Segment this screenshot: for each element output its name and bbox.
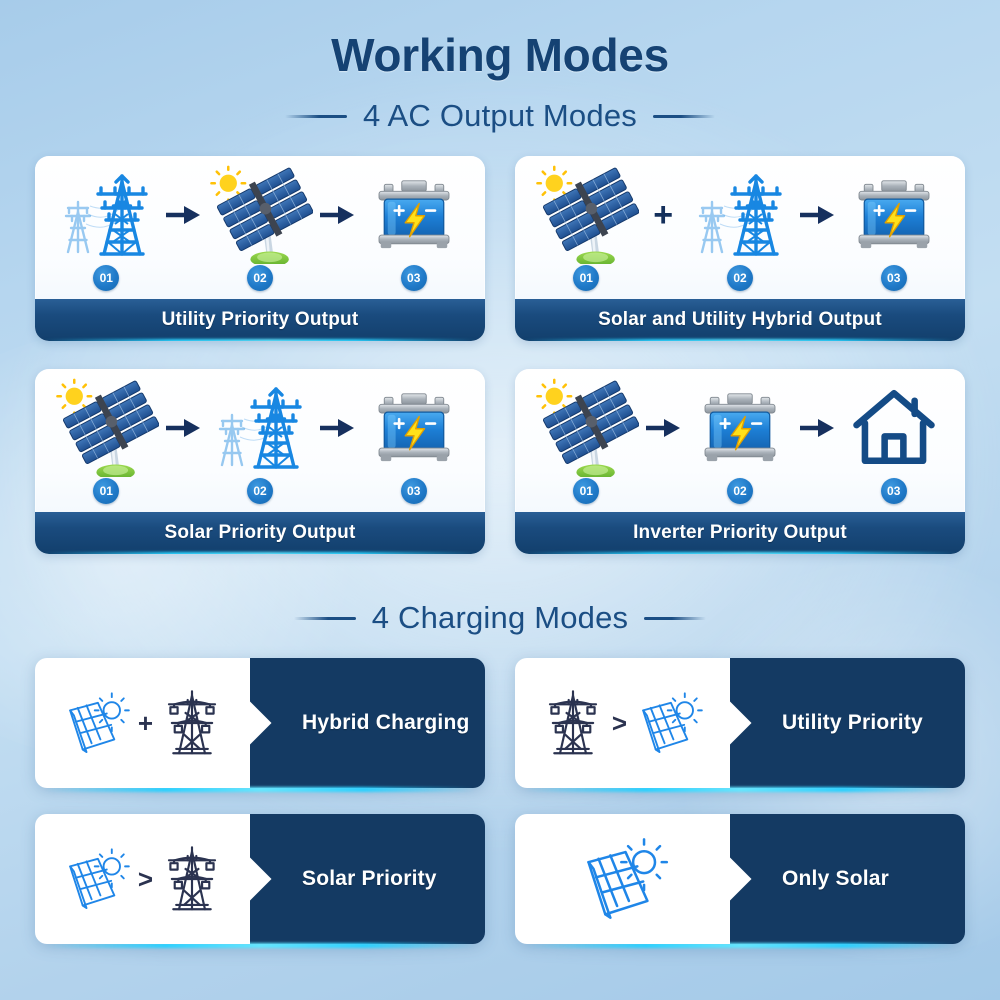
- ac-mode-card[interactable]: 01 + 02 03: [515, 156, 965, 341]
- flow-step: 03: [838, 378, 949, 504]
- ac-section-label: 4 AC Output Modes: [363, 98, 637, 134]
- operator-symbol: +: [138, 710, 153, 736]
- utility-tower-icon: [60, 165, 152, 263]
- operator-symbol: >: [612, 710, 627, 736]
- flow-step: 03: [358, 378, 469, 504]
- ac-mode-title: Inverter Priority Output: [515, 512, 965, 554]
- flow-step: 01: [51, 378, 162, 504]
- charging-icons: +: [35, 658, 250, 788]
- ac-mode-card[interactable]: 01 02 03: [515, 369, 965, 554]
- ac-flow-diagram: 01 02 03: [35, 156, 485, 296]
- flow-step: 03: [838, 165, 949, 291]
- heading-rule-right: [653, 115, 715, 118]
- solar-panel-array-icon: [533, 165, 639, 263]
- flow-connector: [162, 415, 205, 467]
- flow-step: 01: [51, 165, 162, 291]
- heading-rule-left: [285, 115, 347, 118]
- flow-step: 01: [531, 378, 642, 504]
- charging-mode-card[interactable]: + Hybrid Charging: [35, 658, 485, 788]
- utility-tower-line-icon: [540, 687, 606, 759]
- charging-label-panel: Solar Priority: [250, 814, 485, 944]
- utility-tower-icon: [214, 378, 306, 476]
- ac-mode-title: Utility Priority Output: [35, 299, 485, 341]
- operator-symbol: >: [138, 866, 153, 892]
- step-badge: 03: [401, 265, 427, 291]
- utility-tower-line-icon: [159, 687, 225, 759]
- solar-panel-array-icon: [53, 378, 159, 476]
- step-badge: 03: [881, 265, 907, 291]
- arrow-right-icon: [798, 202, 836, 228]
- arrow-notch-icon: [730, 701, 752, 745]
- ac-mode-title: Solar and Utility Hybrid Output: [515, 299, 965, 341]
- ac-flow-diagram: 01 02 03: [515, 369, 965, 509]
- solar-panel-line-icon: [633, 690, 705, 756]
- utility-tower-line-icon: [159, 843, 225, 915]
- ac-flow-diagram: 01 02 03: [35, 369, 485, 509]
- step-badge: 03: [401, 478, 427, 504]
- step-badge: 01: [573, 265, 599, 291]
- charging-label-panel: Utility Priority: [730, 658, 965, 788]
- charging-section-heading: 4 Charging Modes: [0, 600, 1000, 636]
- step-badge: 01: [93, 265, 119, 291]
- working-modes-infographic: Working Modes 4 AC Output Modes 01: [0, 0, 1000, 1000]
- charging-label-panel: Hybrid Charging: [250, 658, 485, 788]
- flow-connector: [795, 202, 838, 254]
- arrow-notch-icon: [730, 857, 752, 901]
- flow-connector: +: [642, 198, 685, 258]
- battery-icon: [698, 378, 782, 476]
- step-badge: 02: [727, 478, 753, 504]
- charging-section-label: 4 Charging Modes: [372, 600, 629, 636]
- charging-modes-grid: + Hybrid Charging > Utility Priority: [0, 658, 1000, 944]
- arrow-notch-icon: [250, 701, 272, 745]
- flow-connector: [795, 415, 838, 467]
- charging-label-panel: Only Solar: [730, 814, 965, 944]
- flow-connector: [315, 202, 358, 254]
- utility-tower-icon: [694, 165, 786, 263]
- battery-icon: [372, 378, 456, 476]
- ac-section-heading: 4 AC Output Modes: [0, 98, 1000, 134]
- flow-step: 02: [205, 165, 316, 291]
- step-badge: 02: [247, 478, 273, 504]
- arrow-right-icon: [164, 202, 202, 228]
- flow-connector: [642, 415, 685, 467]
- solar-panel-array-icon: [207, 165, 313, 263]
- solar-panel-line-icon: [575, 835, 671, 923]
- heading-rule-right: [644, 617, 706, 620]
- page-title: Working Modes: [0, 0, 1000, 82]
- battery-icon: [852, 165, 936, 263]
- heading-rule-left: [294, 617, 356, 620]
- solar-panel-array-icon: [533, 378, 639, 476]
- step-badge: 01: [573, 478, 599, 504]
- step-badge: 02: [727, 265, 753, 291]
- flow-step: 01: [531, 165, 642, 291]
- solar-panel-line-icon: [60, 846, 132, 912]
- charging-mode-card[interactable]: > Utility Priority: [515, 658, 965, 788]
- flow-connector: [315, 415, 358, 467]
- flow-step: 02: [205, 378, 316, 504]
- charging-mode-label: Solar Priority: [302, 867, 437, 891]
- charging-mode-label: Hybrid Charging: [302, 711, 470, 735]
- arrow-right-icon: [318, 415, 356, 441]
- arrow-notch-icon: [250, 857, 272, 901]
- flow-step: 03: [358, 165, 469, 291]
- flow-connector: [162, 202, 205, 254]
- ac-mode-title: Solar Priority Output: [35, 512, 485, 554]
- house-icon: [849, 378, 939, 476]
- ac-flow-diagram: 01 + 02 03: [515, 156, 965, 296]
- plus-icon: +: [653, 198, 673, 232]
- step-badge: 03: [881, 478, 907, 504]
- charging-icons: >: [35, 814, 250, 944]
- arrow-right-icon: [318, 202, 356, 228]
- ac-mode-card[interactable]: 01 02 03: [35, 369, 485, 554]
- charging-mode-card[interactable]: Only Solar: [515, 814, 965, 944]
- ac-mode-card[interactable]: 01 02 03: [35, 156, 485, 341]
- arrow-right-icon: [644, 415, 682, 441]
- flow-step: 02: [685, 378, 796, 504]
- step-badge: 01: [93, 478, 119, 504]
- solar-panel-line-icon: [60, 690, 132, 756]
- ac-output-modes-grid: 01 02 03: [0, 156, 1000, 554]
- flow-step: 02: [685, 165, 796, 291]
- charging-icons: >: [515, 658, 730, 788]
- charging-mode-label: Utility Priority: [782, 711, 923, 735]
- charging-mode-card[interactable]: > Solar Priority: [35, 814, 485, 944]
- charging-mode-label: Only Solar: [782, 867, 889, 891]
- battery-icon: [372, 165, 456, 263]
- charging-icons: [515, 814, 730, 944]
- arrow-right-icon: [164, 415, 202, 441]
- step-badge: 02: [247, 265, 273, 291]
- arrow-right-icon: [798, 415, 836, 441]
